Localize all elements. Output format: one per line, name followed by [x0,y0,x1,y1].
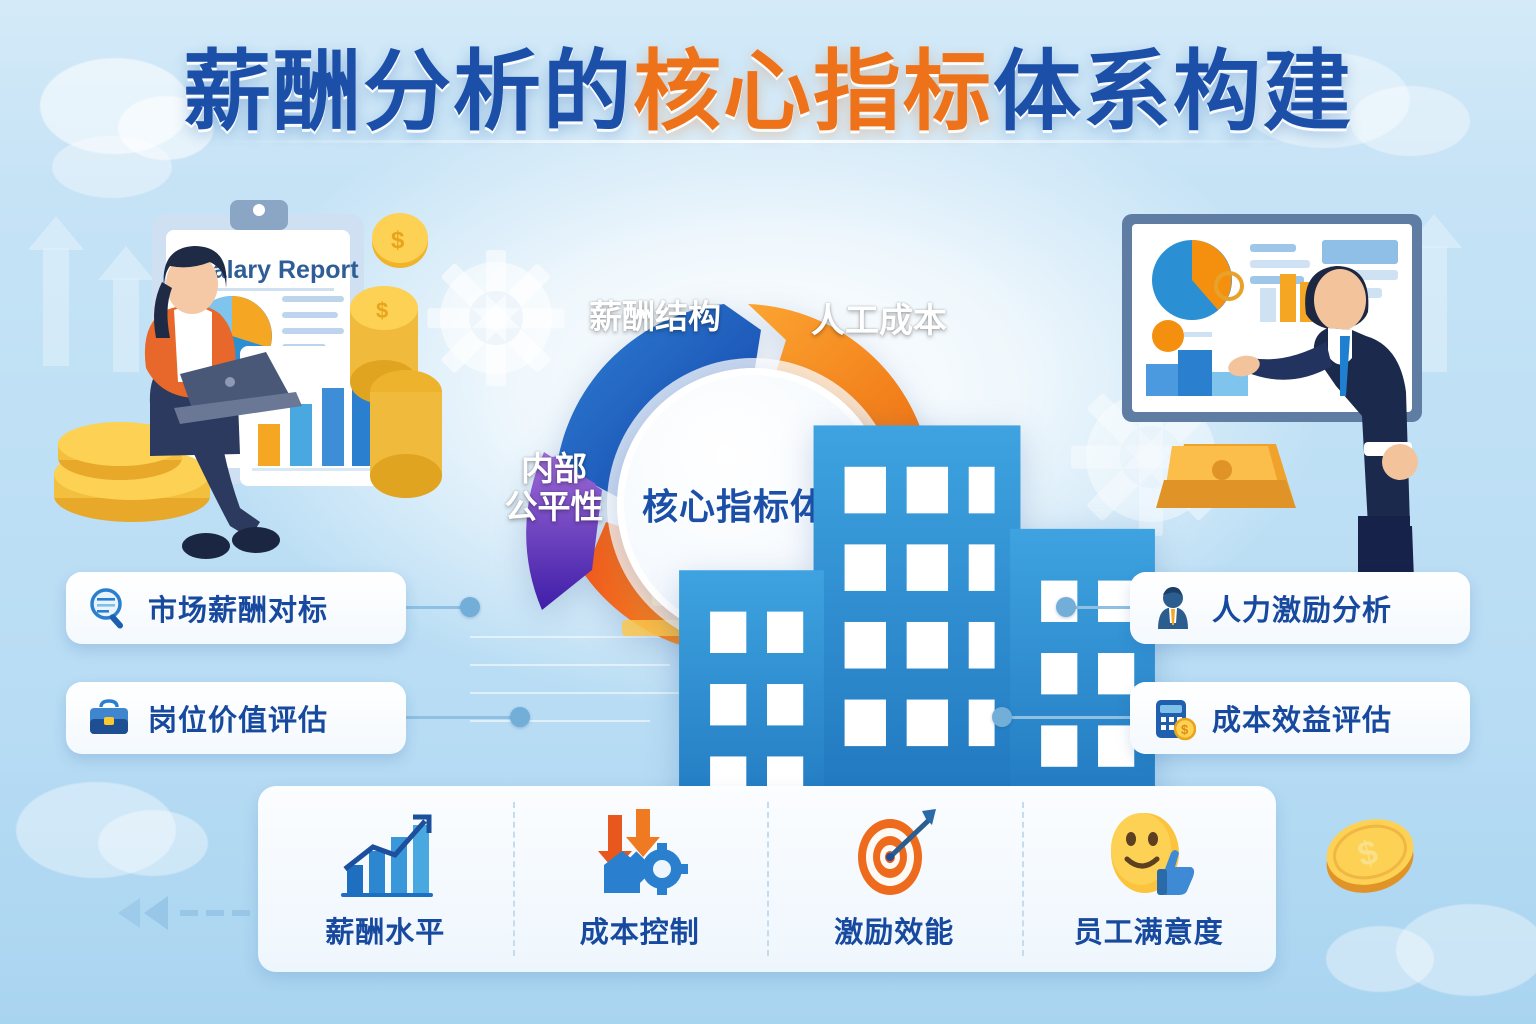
metric-label: 激励效能 [834,909,954,951]
bar-chart-up-icon [333,807,437,899]
magnifier-report-icon [86,585,132,631]
coin-icon: $ [1316,806,1424,902]
metric-incentive-effect[interactable]: 激励效能 [767,786,1022,972]
metric-label: 薪酬水平 [325,909,445,951]
connector-dot [510,707,530,727]
connector-line [404,606,468,609]
connector-line [1068,606,1130,609]
card-label: 岗位价值评估 [148,697,328,739]
cloud-shape [98,810,208,876]
cloud-shape [1326,926,1434,992]
connector-dot [1056,597,1076,617]
wheel-hub: 核心指标体系 [617,368,889,640]
card-incentive-analysis[interactable]: 人力激励分析 [1130,572,1470,644]
card-cost-benefit[interactable]: $ 成本效益评估 [1130,682,1470,754]
calculator-coin-icon: $ [1150,695,1196,741]
card-label: 人力激励分析 [1212,587,1392,629]
svg-text:$: $ [1181,722,1189,737]
business-person-icon [1150,585,1196,631]
connector-line [1006,716,1130,719]
card-label: 成本效益评估 [1212,697,1392,739]
connector-line [404,716,518,719]
infographic-canvas: 薪酬分析的核心指标体系构建 Salary Report [0,0,1536,1024]
target-dart-icon [842,807,946,899]
page-title: 薪酬分析的核心指标体系构建 [0,44,1536,139]
metric-employee-satisfaction[interactable]: 员工满意度 [1022,786,1277,972]
metric-salary-level[interactable]: 薪酬水平 [258,786,513,972]
card-label: 市场薪酬对标 [148,587,328,629]
core-indicator-wheel: $ $ 薪酬结构 人工成本 绩效 薪酬 内部 公平性 [456,222,1056,792]
double-left-arrow-icon [118,888,288,938]
metric-label: 成本控制 [580,909,700,951]
title-suffix: 体系构建 [993,42,1353,141]
metric-label: 员工满意度 [1074,909,1224,951]
card-job-evaluation[interactable]: 岗位价值评估 [66,682,406,754]
cloud-shape [52,136,172,198]
title-highlight: 核心指标 [633,42,993,141]
card-market-benchmark[interactable]: 市场薪酬对标 [66,572,406,644]
illustration-woman-on-coins: Salary Report $ [44,196,444,582]
connector-dot [460,597,480,617]
metric-cost-control[interactable]: 成本控制 [513,786,768,972]
smiley-thumbsup-icon [1097,807,1201,899]
svg-text:$: $ [391,227,405,254]
briefcase-icon [86,695,132,741]
title-prefix: 薪酬分析的 [183,42,633,141]
bottom-metrics-strip: 薪酬水平 成本控制 [258,786,1276,972]
title-underline [203,140,1333,143]
svg-text:$: $ [376,298,388,323]
connector-dot [992,707,1012,727]
down-arrows-gear-icon [588,807,692,899]
